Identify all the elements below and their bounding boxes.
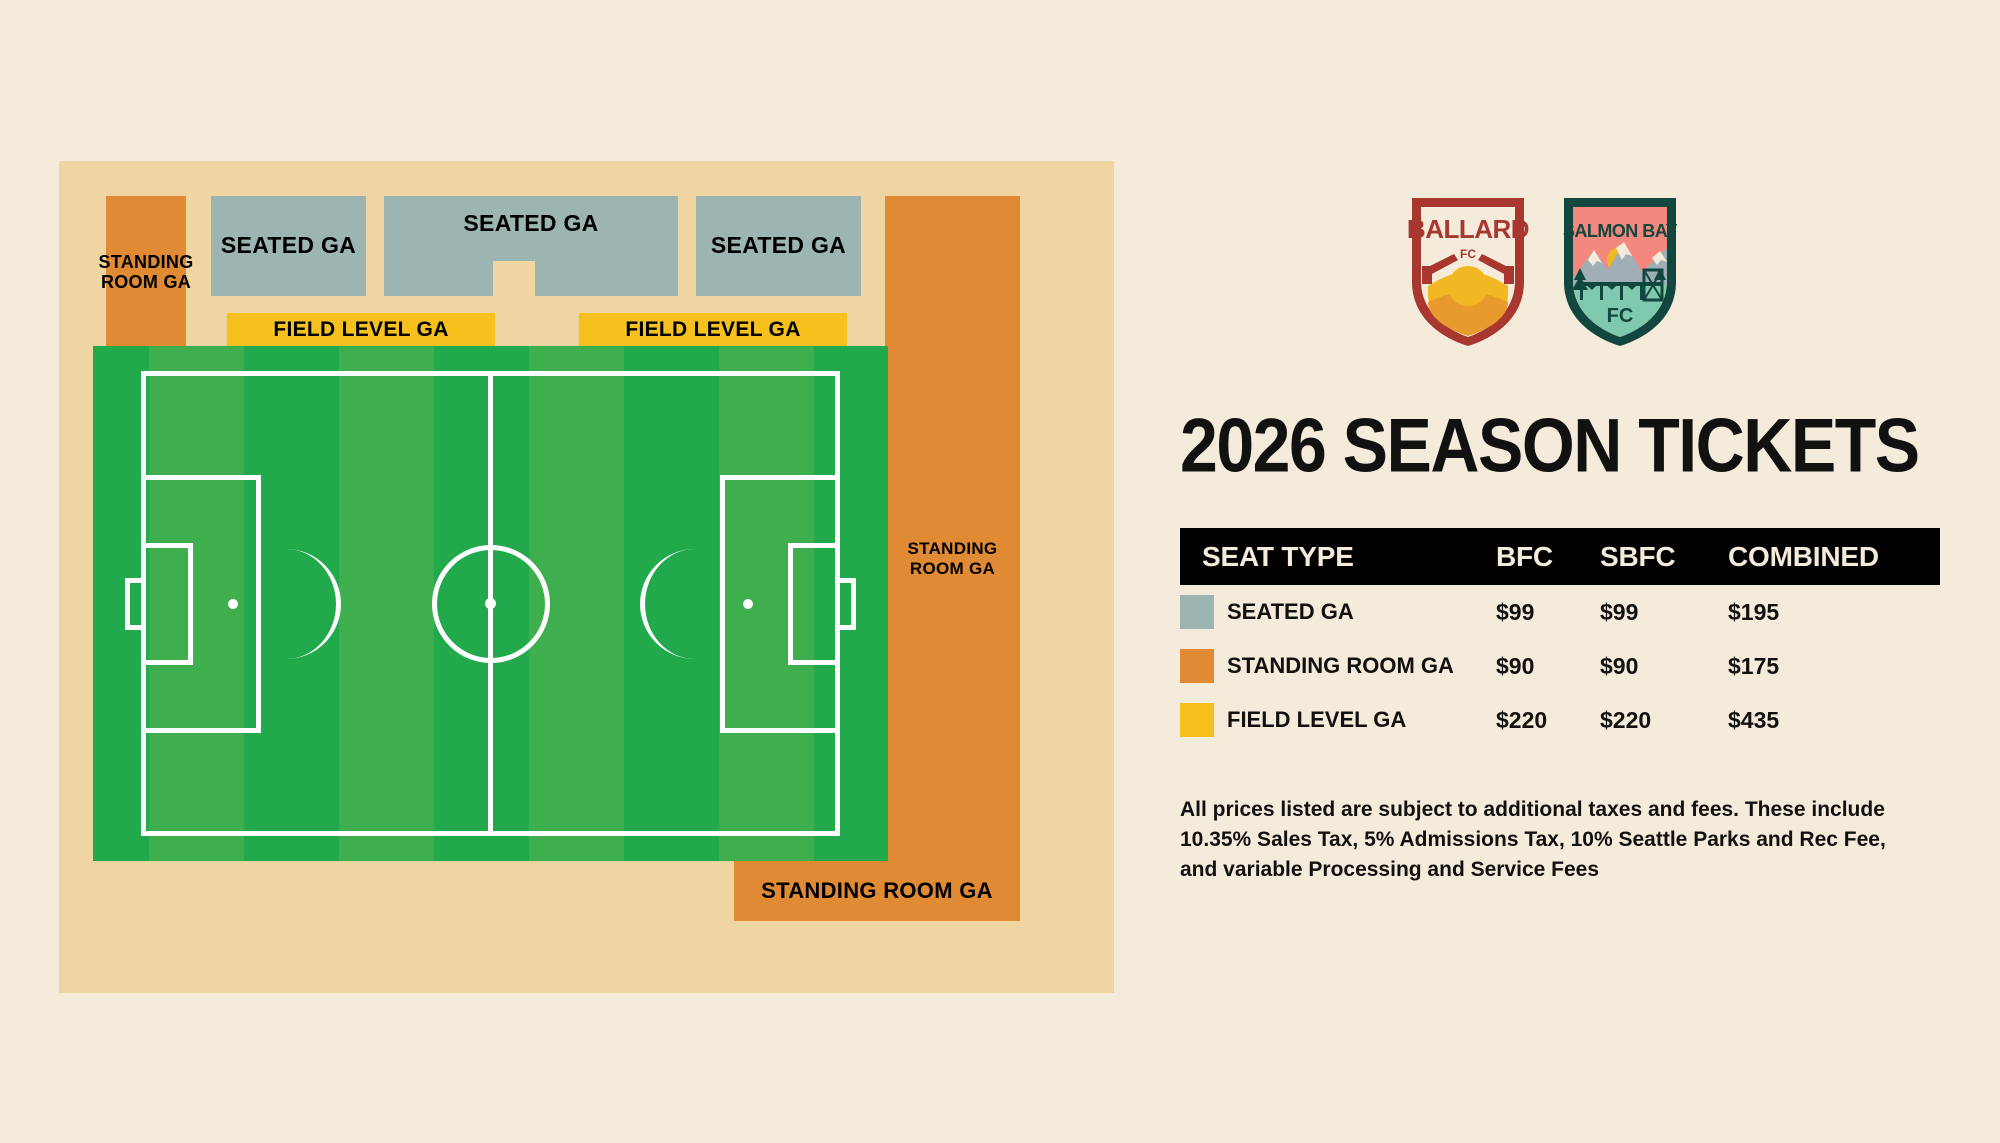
section-seated-ga-left[interactable]: SEATED GA [211, 196, 366, 296]
swatch-standing-room-ga [1180, 649, 1214, 683]
table-row: SEATED GA $99 $99 $195 [1180, 585, 1940, 639]
price-combined: $195 [1728, 599, 1928, 626]
swatch-field-level-ga [1180, 703, 1214, 737]
section-standing-room-bottom[interactable]: STANDING ROOM GA [734, 861, 1020, 921]
seat-type-label: STANDING ROOM GA [1227, 653, 1454, 679]
seat-type-label: FIELD LEVEL GA [1227, 707, 1406, 733]
goal-box-right [788, 543, 840, 665]
goal-left [125, 578, 141, 630]
section-standing-room-left[interactable]: STANDING ROOM GA [106, 196, 186, 348]
price-bfc: $99 [1496, 599, 1600, 626]
salmon-bay-crest-fc: FC [1607, 305, 1634, 327]
salmon-bay-fc-crest: SALMON BAY FC [1556, 190, 1684, 350]
column-header-seat-type: SEAT TYPE [1180, 541, 1496, 573]
page-title: 2026 SEASON TICKETS [1180, 402, 1940, 489]
penalty-spot-right [743, 599, 753, 609]
section-field-level-ga-right[interactable]: FIELD LEVEL GA [579, 313, 847, 346]
season-ticket-panel: BALLARD FC [1180, 190, 1940, 884]
section-label: SEATED GA [711, 233, 846, 259]
swatch-seated-ga [1180, 595, 1214, 629]
seat-type-cell: STANDING ROOM GA [1180, 649, 1496, 683]
section-label: STANDING ROOM GA [761, 879, 993, 904]
price-combined: $435 [1728, 707, 1928, 734]
price-sbfc: $99 [1600, 599, 1728, 626]
goal-box-left [141, 543, 193, 665]
price-bfc: $220 [1496, 707, 1600, 734]
column-header-bfc: BFC [1496, 541, 1600, 573]
price-bfc: $90 [1496, 653, 1600, 680]
section-label: FIELD LEVEL GA [625, 318, 800, 342]
section-standing-room-right[interactable]: STANDING ROOM GA [885, 196, 1020, 921]
seated-center-notch [493, 261, 535, 297]
column-header-combined: COMBINED [1728, 541, 1928, 573]
price-combined: $175 [1728, 653, 1928, 680]
table-row: FIELD LEVEL GA $220 $220 $435 [1180, 693, 1940, 747]
section-label: FIELD LEVEL GA [273, 318, 448, 342]
seat-type-label: SEATED GA [1227, 599, 1354, 625]
price-sbfc: $220 [1600, 707, 1728, 734]
section-label: SEATED GA [221, 233, 356, 259]
soccer-pitch [93, 346, 888, 861]
ballard-crest-wordmark: BALLARD [1407, 214, 1529, 244]
seat-type-cell: SEATED GA [1180, 595, 1496, 629]
table-header-row: SEAT TYPE BFC SBFC COMBINED [1180, 528, 1940, 585]
column-header-sbfc: SBFC [1600, 541, 1728, 573]
section-label: STANDING ROOM GA [885, 539, 1020, 577]
goal-right [840, 578, 856, 630]
table-row: STANDING ROOM GA $90 $90 $175 [1180, 639, 1940, 693]
seat-type-cell: FIELD LEVEL GA [1180, 703, 1496, 737]
stadium-seating-map: STANDING ROOM GA STANDING ROOM GA STANDI… [59, 161, 1114, 993]
price-sbfc: $90 [1600, 653, 1728, 680]
ballard-fc-crest: BALLARD FC [1404, 190, 1532, 350]
center-spot [485, 598, 496, 609]
salmon-bay-crest-wordmark: SALMON BAY [1563, 221, 1678, 241]
penalty-spot-left [228, 599, 238, 609]
club-crests: BALLARD FC [1180, 190, 1940, 350]
price-disclaimer: All prices listed are subject to additio… [1180, 795, 1920, 884]
section-label: SEATED GA [463, 211, 598, 237]
section-field-level-ga-left[interactable]: FIELD LEVEL GA [227, 313, 495, 346]
ballard-crest-fc: FC [1460, 247, 1476, 261]
section-label: STANDING ROOM GA [98, 252, 193, 292]
section-seated-ga-right[interactable]: SEATED GA [696, 196, 861, 296]
pricing-table: SEAT TYPE BFC SBFC COMBINED SEATED GA $9… [1180, 528, 1940, 747]
